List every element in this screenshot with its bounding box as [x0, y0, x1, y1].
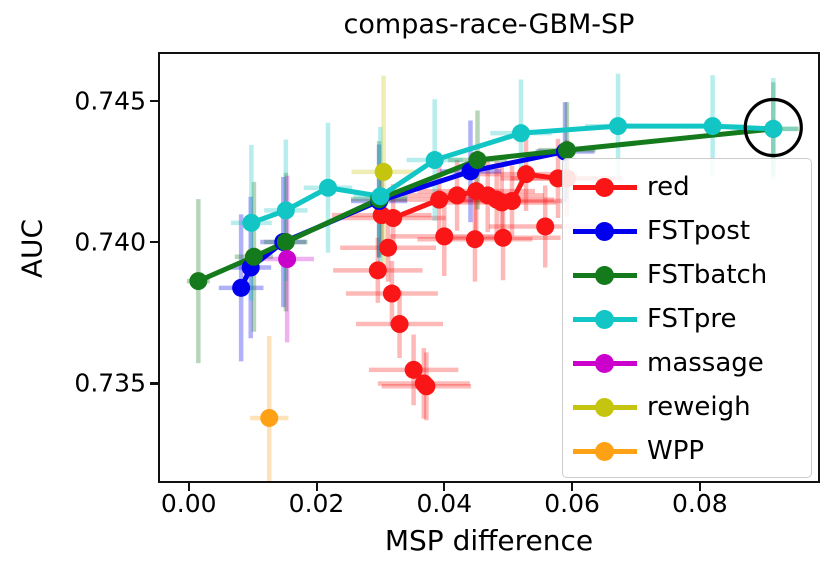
legend: redFSTpostFSTbatchFSTpremassagereweighWP…: [562, 158, 812, 478]
legend-label: red: [647, 172, 690, 202]
data-point-red: [435, 227, 453, 245]
data-point-massage: [278, 250, 296, 268]
data-point-FSTpre: [426, 151, 444, 169]
chart-figure: compas-race-GBM-SP 0.7350.7400.745 AUC M…: [0, 0, 831, 580]
data-point-FSTpre: [704, 117, 722, 135]
data-point-red: [466, 230, 484, 248]
y-tick-mark: [150, 382, 158, 384]
legend-swatch-icon: [573, 264, 637, 286]
x-tick-label: 0.00: [161, 489, 217, 518]
legend-label: reweigh: [647, 392, 751, 422]
legend-label: WPP: [647, 436, 704, 466]
data-point-red: [417, 377, 435, 395]
data-point-red: [517, 165, 535, 183]
x-axis-label: MSP difference: [158, 524, 820, 557]
data-point-FSTpre: [242, 214, 260, 232]
y-axis-label: AUC: [16, 179, 49, 319]
data-point-red: [369, 261, 387, 279]
y-tick-label: 0.735: [74, 369, 146, 398]
x-tick-mark: [443, 483, 445, 491]
legend-item-FSTpre[interactable]: FSTpre: [563, 297, 811, 341]
legend-item-FSTpost[interactable]: FSTpost: [563, 209, 811, 253]
data-point-red: [448, 186, 466, 204]
data-point-FSTbatch: [469, 151, 487, 169]
x-tick-mark: [699, 483, 701, 491]
data-point-FSTbatch: [277, 233, 295, 251]
data-point-FSTpre: [277, 201, 295, 219]
data-point-red: [536, 217, 554, 235]
data-point-red: [379, 239, 397, 257]
legend-swatch-icon: [573, 308, 637, 330]
data-point-FSTbatch: [189, 272, 207, 290]
data-point-FSTpre: [764, 120, 782, 138]
x-tick-mark: [188, 483, 190, 491]
data-point-reweigh: [375, 163, 393, 181]
y-tick-mark: [150, 241, 158, 243]
data-point-red: [391, 315, 409, 333]
y-tick-label: 0.745: [74, 86, 146, 115]
legend-swatch-icon: [573, 176, 637, 198]
legend-item-FSTbatch[interactable]: FSTbatch: [563, 253, 811, 297]
legend-label: FSTbatch: [647, 260, 767, 290]
legend-label: FSTpost: [647, 216, 750, 246]
data-point-red: [383, 285, 401, 303]
y-tick-label: 0.740: [74, 228, 146, 257]
legend-item-massage[interactable]: massage: [563, 341, 811, 385]
legend-swatch-icon: [573, 352, 637, 374]
legend-swatch-icon: [573, 440, 637, 462]
legend-item-red[interactable]: red: [563, 165, 811, 209]
legend-swatch-icon: [573, 396, 637, 418]
data-point-WPP: [260, 409, 278, 427]
x-tick-mark: [571, 483, 573, 491]
x-tick-label: 0.02: [289, 489, 345, 518]
data-point-red: [430, 191, 448, 209]
legend-item-reweigh[interactable]: reweigh: [563, 385, 811, 429]
chart-title: compas-race-GBM-SP: [158, 8, 820, 42]
y-tick-mark: [150, 100, 158, 102]
x-tick-mark: [316, 483, 318, 491]
data-point-FSTbatch: [558, 141, 576, 159]
data-point-red: [503, 192, 521, 210]
legend-label: FSTpre: [647, 304, 737, 334]
data-point-FSTpre: [319, 179, 337, 197]
legend-swatch-icon: [573, 220, 637, 242]
data-point-FSTpre: [371, 187, 389, 205]
data-point-red: [384, 209, 402, 227]
data-point-FSTbatch: [245, 248, 263, 266]
x-tick-label: 0.08: [672, 489, 728, 518]
data-point-FSTpre: [512, 124, 530, 142]
x-tick-label: 0.04: [416, 489, 472, 518]
legend-item-WPP[interactable]: WPP: [563, 429, 811, 473]
data-point-red: [494, 229, 512, 247]
x-tick-label: 0.06: [544, 489, 600, 518]
data-point-FSTpre: [609, 117, 627, 135]
legend-label: massage: [647, 348, 764, 378]
data-point-FSTpost: [232, 279, 250, 297]
